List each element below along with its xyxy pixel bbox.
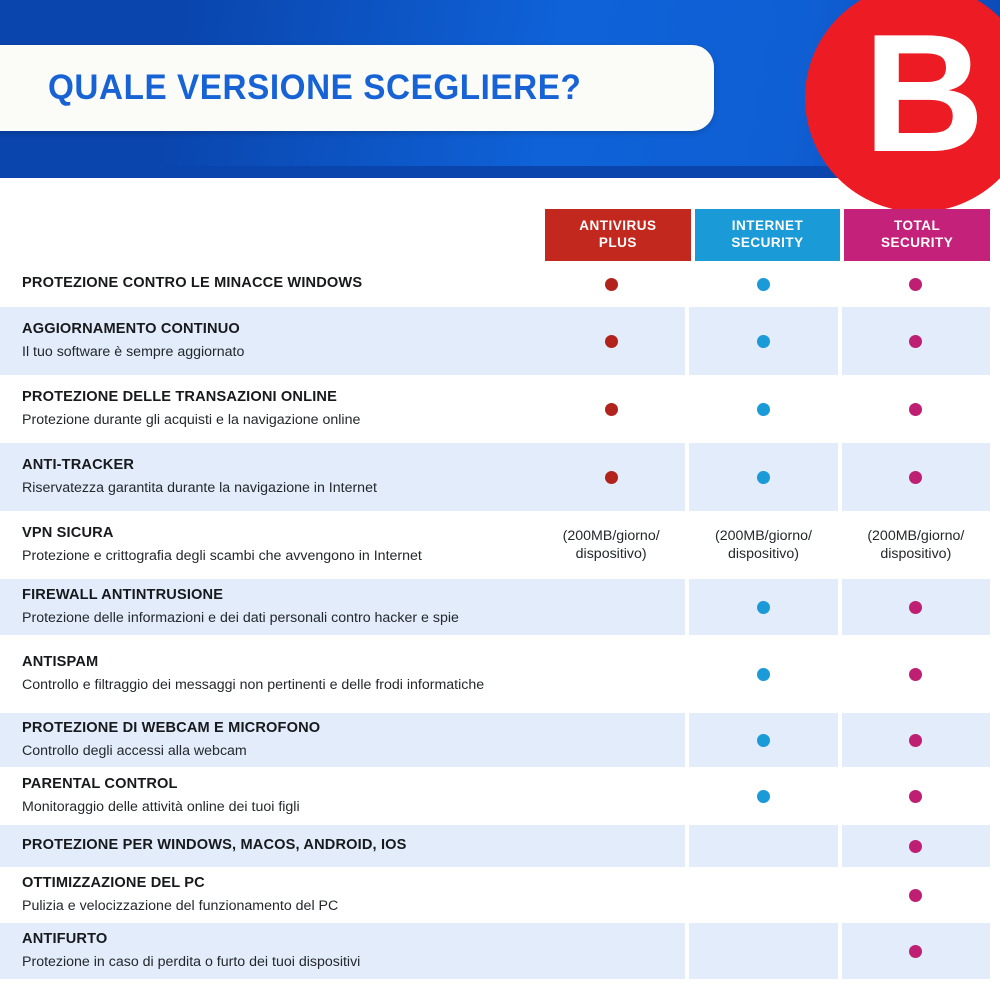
plan-cell-2 bbox=[842, 767, 990, 825]
included-dot-icon bbox=[909, 945, 922, 958]
feature-subtitle: Controllo degli accessi alla webcam bbox=[22, 742, 515, 760]
plan-cell-1: (200MB/giorno/dispositivo) bbox=[689, 511, 837, 579]
included-dot-icon bbox=[909, 403, 922, 416]
included-dot-icon bbox=[909, 889, 922, 902]
plan-cell-1 bbox=[689, 867, 837, 923]
plan-cell-1 bbox=[689, 767, 837, 825]
included-dot-icon bbox=[909, 734, 922, 747]
feature-cell: PROTEZIONE CONTRO LE MINACCE WINDOWS bbox=[0, 261, 537, 307]
feature-comparison-table: PROTEZIONE CONTRO LE MINACCE WINDOWSAGGI… bbox=[0, 261, 1000, 979]
plan-cells bbox=[537, 307, 1000, 375]
bitdefender-logo-icon: B bbox=[805, 0, 1000, 212]
plan-cell-1 bbox=[689, 923, 837, 979]
plan-cell-2 bbox=[842, 825, 990, 867]
feature-title: VPN SICURA bbox=[22, 525, 515, 543]
included-dot-icon bbox=[605, 403, 618, 416]
plan-cell-0 bbox=[537, 635, 685, 713]
table-row: PROTEZIONE PER WINDOWS, MACOS, ANDROID, … bbox=[0, 825, 1000, 867]
included-dot-icon bbox=[909, 668, 922, 681]
plan-cell-1 bbox=[689, 579, 837, 635]
feature-title: OTTIMIZZAZIONE DEL PC bbox=[22, 875, 515, 893]
feature-title: PROTEZIONE PER WINDOWS, MACOS, ANDROID, … bbox=[22, 837, 515, 855]
feature-subtitle: Il tuo software è sempre aggiornato bbox=[22, 343, 515, 361]
plan-cell-2 bbox=[842, 923, 990, 979]
logo-letter: B bbox=[805, 0, 991, 212]
table-row: PROTEZIONE CONTRO LE MINACCE WINDOWS bbox=[0, 261, 1000, 307]
plan-cell-1 bbox=[689, 307, 837, 375]
feature-cell: VPN SICURAProtezione e crittografia degl… bbox=[0, 511, 537, 579]
plan-cell-0: (200MB/giorno/dispositivo) bbox=[537, 511, 685, 579]
feature-cell: ANTIFURTOProtezione in caso di perdita o… bbox=[0, 923, 537, 979]
included-dot-icon bbox=[757, 668, 770, 681]
plan-cell-1 bbox=[689, 825, 837, 867]
included-dot-icon bbox=[757, 403, 770, 416]
feature-title: ANTISPAM bbox=[22, 654, 515, 672]
feature-subtitle: Riservatezza garantita durante la naviga… bbox=[22, 479, 515, 497]
feature-subtitle: Protezione e crittografia degli scambi c… bbox=[22, 547, 515, 565]
feature-subtitle: Monitoraggio delle attività online dei t… bbox=[22, 798, 515, 816]
plan-cell-0 bbox=[537, 767, 685, 825]
feature-title: PROTEZIONE DI WEBCAM E MICROFONO bbox=[22, 720, 515, 738]
included-dot-icon bbox=[909, 790, 922, 803]
plan-cell-1 bbox=[689, 713, 837, 767]
plan-cell-0 bbox=[537, 867, 685, 923]
plan-cell-2 bbox=[842, 307, 990, 375]
plan-cell-2 bbox=[842, 579, 990, 635]
included-dot-icon bbox=[909, 335, 922, 348]
plan-cells: (200MB/giorno/dispositivo)(200MB/giorno/… bbox=[537, 511, 1000, 579]
column-header-line1: INTERNET bbox=[732, 218, 804, 235]
table-row: ANTIFURTOProtezione in caso di perdita o… bbox=[0, 923, 1000, 979]
feature-title: PROTEZIONE DELLE TRANSAZIONI ONLINE bbox=[22, 389, 515, 407]
included-dot-icon bbox=[757, 335, 770, 348]
plan-cells bbox=[537, 867, 1000, 923]
included-dot-icon bbox=[605, 335, 618, 348]
column-header-line2: SECURITY bbox=[731, 235, 803, 252]
included-dot-icon bbox=[909, 278, 922, 291]
plan-cell-0 bbox=[537, 579, 685, 635]
column-header-line2: PLUS bbox=[599, 235, 637, 252]
plan-cell-0 bbox=[537, 261, 685, 307]
included-dot-icon bbox=[909, 840, 922, 853]
feature-title: PARENTAL CONTROL bbox=[22, 776, 515, 794]
column-header-0[interactable]: ANTIVIRUSPLUS bbox=[545, 209, 691, 261]
table-row: OTTIMIZZAZIONE DEL PCPulizia e velocizza… bbox=[0, 867, 1000, 923]
included-dot-icon bbox=[605, 471, 618, 484]
table-row: FIREWALL ANTINTRUSIONEProtezione delle i… bbox=[0, 579, 1000, 635]
column-header-line2: SECURITY bbox=[881, 235, 953, 252]
plan-cell-1 bbox=[689, 375, 837, 443]
feature-cell: FIREWALL ANTINTRUSIONEProtezione delle i… bbox=[0, 579, 537, 635]
table-row: AGGIORNAMENTO CONTINUOIl tuo software è … bbox=[0, 307, 1000, 375]
feature-cell: AGGIORNAMENTO CONTINUOIl tuo software è … bbox=[0, 307, 537, 375]
feature-subtitle: Pulizia e velocizzazione del funzionamen… bbox=[22, 897, 515, 915]
plan-cell-2 bbox=[842, 261, 990, 307]
column-headers: ANTIVIRUSPLUSINTERNETSECURITYTOTALSECURI… bbox=[545, 209, 990, 261]
table-row: VPN SICURAProtezione e crittografia degl… bbox=[0, 511, 1000, 579]
feature-cell: PROTEZIONE DI WEBCAM E MICROFONOControll… bbox=[0, 713, 537, 767]
plan-cells bbox=[537, 713, 1000, 767]
plan-cells bbox=[537, 443, 1000, 511]
included-dot-icon bbox=[909, 601, 922, 614]
table-row: PROTEZIONE DELLE TRANSAZIONI ONLINEProte… bbox=[0, 375, 1000, 443]
plan-cell-0 bbox=[537, 307, 685, 375]
plan-cells bbox=[537, 375, 1000, 443]
plan-cell-2 bbox=[842, 375, 990, 443]
plan-note: (200MB/giorno/dispositivo) bbox=[867, 527, 964, 563]
plan-cells bbox=[537, 635, 1000, 713]
feature-title: ANTI-TRACKER bbox=[22, 457, 515, 475]
plan-cell-2 bbox=[842, 713, 990, 767]
plan-cells bbox=[537, 579, 1000, 635]
plan-cell-0 bbox=[537, 375, 685, 443]
table-row: ANTISPAMControllo e filtraggio dei messa… bbox=[0, 635, 1000, 713]
column-header-line1: TOTAL bbox=[894, 218, 940, 235]
plan-cells bbox=[537, 767, 1000, 825]
feature-cell: ANTISPAMControllo e filtraggio dei messa… bbox=[0, 635, 537, 713]
plan-cell-0 bbox=[537, 825, 685, 867]
plan-cell-0 bbox=[537, 923, 685, 979]
feature-cell: PROTEZIONE PER WINDOWS, MACOS, ANDROID, … bbox=[0, 825, 537, 867]
plan-cell-2 bbox=[842, 635, 990, 713]
included-dot-icon bbox=[909, 471, 922, 484]
table-row: PROTEZIONE DI WEBCAM E MICROFONOControll… bbox=[0, 713, 1000, 767]
plan-cell-1 bbox=[689, 635, 837, 713]
included-dot-icon bbox=[757, 601, 770, 614]
feature-title: PROTEZIONE CONTRO LE MINACCE WINDOWS bbox=[22, 275, 515, 293]
included-dot-icon bbox=[605, 278, 618, 291]
title-pill: QUALE VERSIONE SCEGLIERE? bbox=[0, 45, 714, 131]
column-header-1[interactable]: INTERNETSECURITY bbox=[695, 209, 841, 261]
plan-cell-0 bbox=[537, 443, 685, 511]
feature-subtitle: Protezione in caso di perdita o furto de… bbox=[22, 953, 515, 971]
plan-cell-2 bbox=[842, 443, 990, 511]
plan-cells bbox=[537, 825, 1000, 867]
plan-cells bbox=[537, 261, 1000, 307]
table-row: ANTI-TRACKERRiservatezza garantita duran… bbox=[0, 443, 1000, 511]
plan-cell-2: (200MB/giorno/dispositivo) bbox=[842, 511, 990, 579]
plan-cell-0 bbox=[537, 713, 685, 767]
feature-title: AGGIORNAMENTO CONTINUO bbox=[22, 321, 515, 339]
plan-note: (200MB/giorno/dispositivo) bbox=[563, 527, 660, 563]
plan-note: (200MB/giorno/dispositivo) bbox=[715, 527, 812, 563]
included-dot-icon bbox=[757, 734, 770, 747]
column-header-line1: ANTIVIRUS bbox=[579, 218, 656, 235]
feature-subtitle: Protezione delle informazioni e dei dati… bbox=[22, 609, 515, 627]
plan-cell-2 bbox=[842, 867, 990, 923]
included-dot-icon bbox=[757, 471, 770, 484]
table-row: PARENTAL CONTROLMonitoraggio delle attiv… bbox=[0, 767, 1000, 825]
column-header-2[interactable]: TOTALSECURITY bbox=[844, 209, 990, 261]
feature-title: FIREWALL ANTINTRUSIONE bbox=[22, 587, 515, 605]
included-dot-icon bbox=[757, 790, 770, 803]
included-dot-icon bbox=[757, 278, 770, 291]
feature-subtitle: Protezione durante gli acquisti e la nav… bbox=[22, 411, 515, 429]
feature-subtitle: Controllo e filtraggio dei messaggi non … bbox=[22, 676, 515, 694]
feature-cell: PROTEZIONE DELLE TRANSAZIONI ONLINEProte… bbox=[0, 375, 537, 443]
plan-cell-1 bbox=[689, 443, 837, 511]
feature-cell: ANTI-TRACKERRiservatezza garantita duran… bbox=[0, 443, 537, 511]
feature-cell: PARENTAL CONTROLMonitoraggio delle attiv… bbox=[0, 767, 537, 825]
plan-cells bbox=[537, 923, 1000, 979]
plan-cell-1 bbox=[689, 261, 837, 307]
comparison-page: QUALE VERSIONE SCEGLIERE? B ANTIVIRUSPLU… bbox=[0, 0, 1000, 1000]
page-title: QUALE VERSIONE SCEGLIERE? bbox=[48, 68, 581, 108]
feature-cell: OTTIMIZZAZIONE DEL PCPulizia e velocizza… bbox=[0, 867, 537, 923]
feature-title: ANTIFURTO bbox=[22, 931, 515, 949]
